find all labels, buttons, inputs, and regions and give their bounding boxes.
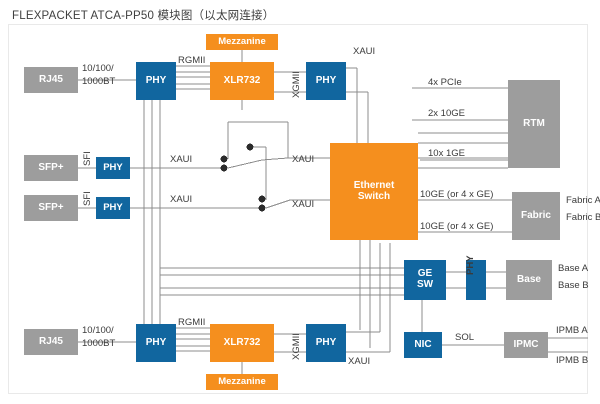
label-xaui-sfp1-right: XAUI (292, 154, 314, 165)
switch-contact-dots (221, 144, 266, 212)
label-xaui-top-right: XAUI (353, 46, 375, 57)
block-xlr732-bottom[interactable]: XLR732 (210, 324, 274, 362)
label-sol: SOL (455, 332, 474, 343)
block-phy-top-left[interactable]: PHY (136, 62, 176, 100)
block-phy-bottom-left[interactable]: PHY (136, 324, 176, 362)
label-rgmii-bottom: RGMII (178, 317, 205, 328)
block-phy-top-right[interactable]: PHY (306, 62, 346, 100)
label-rgmii-top: RGMII (178, 55, 205, 66)
block-fabric[interactable]: Fabric (512, 192, 560, 240)
block-mezzanine-bottom[interactable]: Mezzanine (206, 374, 278, 390)
label-fabric-b-link: 10GE (or 4 x GE) (420, 221, 493, 232)
ethernet-switch-label-line2: Switch (358, 192, 390, 203)
label-xaui-sfp2-left: XAUI (170, 194, 192, 205)
block-xlr732-top[interactable]: XLR732 (210, 62, 274, 100)
label-xgmii-top: XGMII (291, 71, 302, 98)
label-fabric-a-link: 10GE (or 4 x GE) (420, 189, 493, 200)
label-rj45-top-speed-2: 1000BT (82, 76, 115, 87)
block-phy-sfp-1[interactable]: PHY (96, 157, 130, 179)
label-base-a: Base A (558, 263, 588, 274)
label-rj45-bot-speed-2: 1000BT (82, 338, 115, 349)
label-ipmb-b: IPMB B (556, 355, 588, 366)
label-xgmii-bottom: XGMII (291, 333, 302, 360)
label-base-b: Base B (558, 280, 589, 291)
label-fabric-b: Fabric B (566, 212, 600, 223)
label-xaui-bottom-right: XAUI (348, 356, 370, 367)
block-rj45-bottom[interactable]: RJ45 (24, 329, 78, 355)
block-phy-bottom-right[interactable]: PHY (306, 324, 346, 362)
block-phy-sfp-2[interactable]: PHY (96, 197, 130, 219)
label-2x-10ge: 2x 10GE (428, 108, 465, 119)
phy-base-label: PHY (466, 255, 476, 275)
block-base[interactable]: Base (506, 260, 552, 300)
label-sfi-2: SFI (82, 191, 93, 206)
label-rj45-top-speed-1: 10/100/ (82, 63, 114, 74)
ethernet-switch-label-line1: Ethernet (354, 181, 395, 192)
block-rtm[interactable]: RTM (508, 80, 560, 168)
block-ipmc[interactable]: IPMC (504, 332, 548, 358)
block-phy-base[interactable]: PHY (466, 260, 486, 300)
block-nic[interactable]: NIC (404, 332, 442, 358)
label-10x-1ge: 10x 1GE (428, 148, 465, 159)
label-fabric-a: Fabric A (566, 195, 600, 206)
label-xaui-sfp1-left: XAUI (170, 154, 192, 165)
block-mezzanine-top[interactable]: Mezzanine (206, 34, 278, 50)
block-sfp-plus-1[interactable]: SFP+ (24, 155, 78, 181)
block-ethernet-switch[interactable]: Ethernet Switch (330, 143, 418, 240)
block-diagram-canvas: FLEXPACKET ATCA-PP50 模块图（以太网连接） (0, 0, 600, 404)
block-rj45-top[interactable]: RJ45 (24, 67, 78, 93)
label-xaui-sfp2-right: XAUI (292, 199, 314, 210)
label-rj45-bot-speed-1: 10/100/ (82, 325, 114, 336)
block-ge-sw[interactable]: GE SW (404, 260, 446, 300)
ge-sw-label-line2: SW (417, 280, 433, 291)
label-ipmb-a: IPMB A (556, 325, 588, 336)
label-sfi-1: SFI (82, 151, 93, 166)
block-sfp-plus-2[interactable]: SFP+ (24, 195, 78, 221)
label-4x-pcie: 4x PCIe (428, 77, 462, 88)
